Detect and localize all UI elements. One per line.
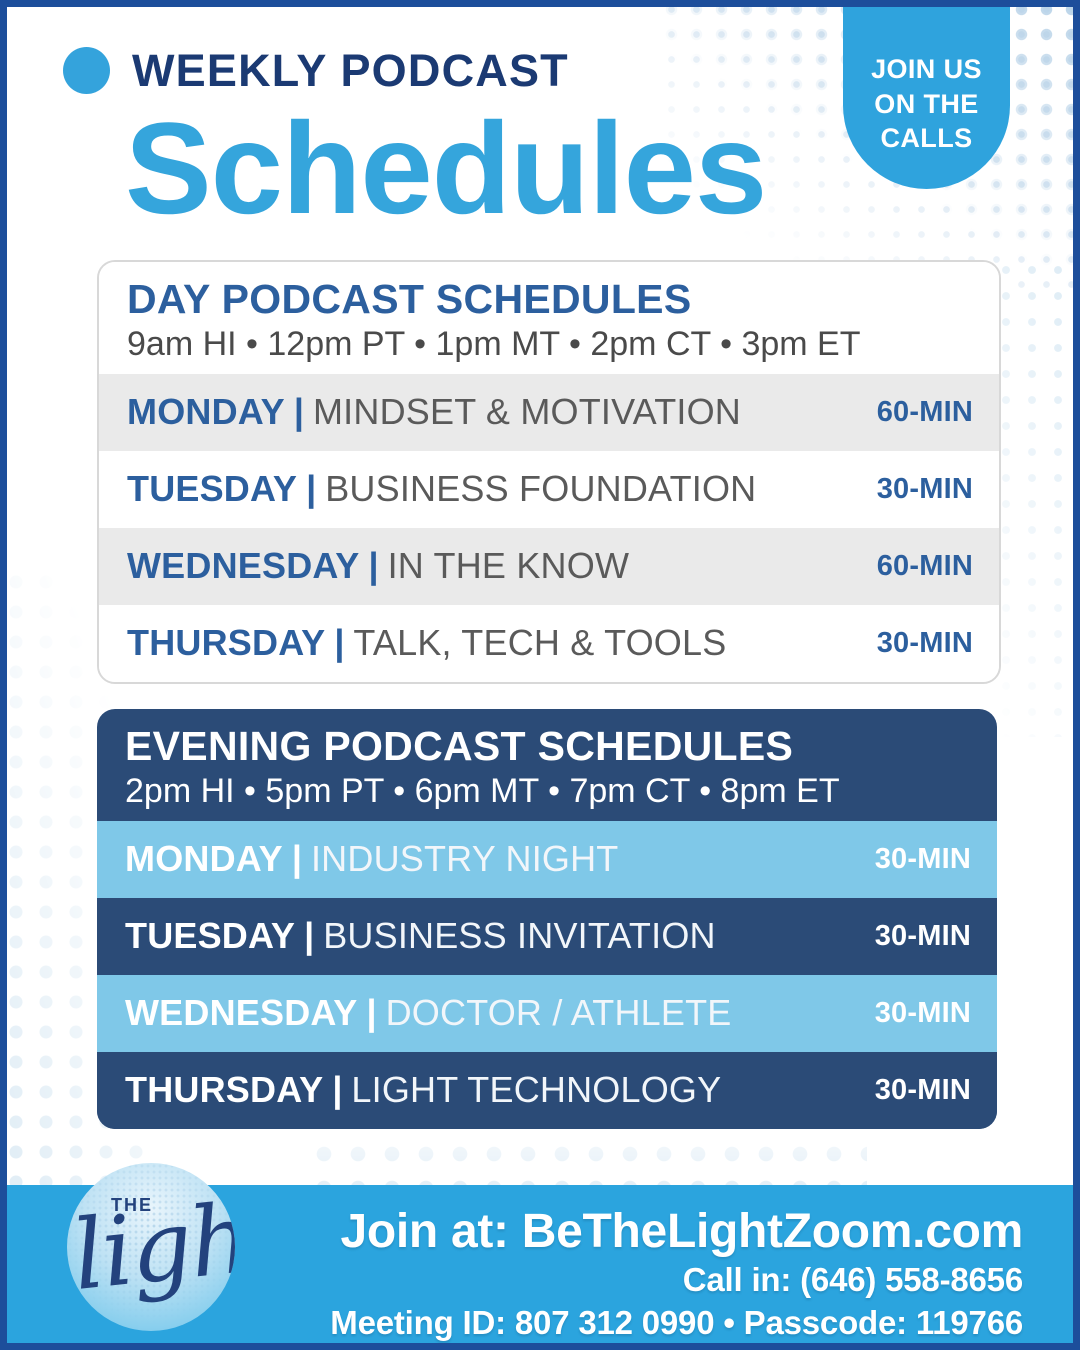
the-light-logo: THE light xyxy=(67,1163,235,1331)
join-badge-line-2: ON THE xyxy=(874,87,978,122)
row-duration-badge: 30-MIN xyxy=(877,627,973,660)
table-row[interactable]: THURSDAY | LIGHT TECHNOLOGY 30-MIN xyxy=(97,1052,997,1129)
evening-panel-title: EVENING PODCAST SCHEDULES xyxy=(125,725,969,768)
day-panel-times: 9am HI • 12pm PT • 1pm MT • 2pm CT • 3pm… xyxy=(127,323,971,366)
table-row[interactable]: WEDNESDAY | DOCTOR / ATHLETE 30-MIN xyxy=(97,975,997,1052)
join-badge-line-1: JOIN US xyxy=(871,52,982,87)
row-topic-label: INDUSTRY NIGHT xyxy=(311,838,619,880)
row-day-label: WEDNESDAY xyxy=(127,545,360,587)
day-panel-title: DAY PODCAST SCHEDULES xyxy=(127,278,971,321)
row-separator: | xyxy=(332,1069,342,1111)
row-topic-label: TALK, TECH & TOOLS xyxy=(353,622,726,664)
row-separator: | xyxy=(334,622,344,664)
row-duration-badge: 30-MIN xyxy=(875,920,971,953)
footer-contact-block: Join at: BeTheLightZoom.com Call in: (64… xyxy=(330,1205,1023,1345)
row-duration-badge: 60-MIN xyxy=(877,396,973,429)
row-topic-label: DOCTOR / ATHLETE xyxy=(386,992,732,1034)
meeting-id-passcode: Meeting ID: 807 312 0990 • Passcode: 119… xyxy=(330,1302,1023,1345)
row-separator: | xyxy=(369,545,379,587)
row-day-label: WEDNESDAY xyxy=(125,992,358,1034)
table-row[interactable]: MONDAY | INDUSTRY NIGHT 30-MIN xyxy=(97,821,997,898)
row-topic-label: MINDSET & MOTIVATION xyxy=(313,391,741,433)
row-duration-badge: 30-MIN xyxy=(875,997,971,1030)
bullet-dot-icon xyxy=(63,47,110,94)
row-separator: | xyxy=(367,992,377,1034)
row-separator: | xyxy=(292,838,302,880)
row-topic-label: BUSINESS INVITATION xyxy=(323,915,716,957)
call-in-number[interactable]: Call in: (646) 558-8656 xyxy=(330,1259,1023,1302)
row-separator: | xyxy=(304,915,314,957)
row-separator: | xyxy=(306,468,316,510)
row-day-label: MONDAY xyxy=(125,838,283,880)
eyebrow-label: WEEKLY PODCAST xyxy=(132,48,569,93)
join-url-link[interactable]: Join at: BeTheLightZoom.com xyxy=(330,1205,1023,1259)
logo-script-label: light xyxy=(68,1178,235,1312)
table-row[interactable]: THURSDAY | TALK, TECH & TOOLS 30-MIN xyxy=(99,605,999,682)
row-duration-badge: 60-MIN xyxy=(877,550,973,583)
evening-panel-times: 2pm HI • 5pm PT • 6pm MT • 7pm CT • 8pm … xyxy=(125,770,969,813)
day-schedule-panel: DAY PODCAST SCHEDULES 9am HI • 12pm PT •… xyxy=(97,260,1001,684)
row-topic-label: IN THE KNOW xyxy=(388,545,630,587)
row-duration-badge: 30-MIN xyxy=(875,843,971,876)
row-day-label: THURSDAY xyxy=(127,622,325,664)
table-row[interactable]: MONDAY | MINDSET & MOTIVATION 60-MIN xyxy=(99,374,999,451)
eyebrow: WEEKLY PODCAST xyxy=(63,47,569,94)
table-row[interactable]: WEDNESDAY | IN THE KNOW 60-MIN xyxy=(99,528,999,605)
poster-canvas: WEEKLY PODCAST Schedules JOIN US ON THE … xyxy=(0,0,1080,1350)
evening-schedule-panel: EVENING PODCAST SCHEDULES 2pm HI • 5pm P… xyxy=(97,709,997,1129)
table-row[interactable]: TUESDAY | BUSINESS INVITATION 30-MIN xyxy=(97,898,997,975)
day-panel-header: DAY PODCAST SCHEDULES 9am HI • 12pm PT •… xyxy=(99,262,999,374)
row-topic-label: LIGHT TECHNOLOGY xyxy=(351,1069,721,1111)
evening-panel-header: EVENING PODCAST SCHEDULES 2pm HI • 5pm P… xyxy=(97,709,997,821)
row-day-label: THURSDAY xyxy=(125,1069,323,1111)
row-duration-badge: 30-MIN xyxy=(877,473,973,506)
footer-bar: THE light Join at: BeTheLightZoom.com Ca… xyxy=(7,1185,1073,1343)
row-day-label: MONDAY xyxy=(127,391,285,433)
page-title: Schedules xyxy=(125,103,766,233)
row-day-label: TUESDAY xyxy=(127,468,297,510)
row-day-label: TUESDAY xyxy=(125,915,295,957)
table-row[interactable]: TUESDAY | BUSINESS FOUNDATION 30-MIN xyxy=(99,451,999,528)
join-badge-line-3: CALLS xyxy=(881,121,973,156)
row-separator: | xyxy=(294,391,304,433)
join-us-badge[interactable]: JOIN US ON THE CALLS xyxy=(843,0,1010,189)
row-duration-badge: 30-MIN xyxy=(875,1074,971,1107)
row-topic-label: BUSINESS FOUNDATION xyxy=(325,468,756,510)
